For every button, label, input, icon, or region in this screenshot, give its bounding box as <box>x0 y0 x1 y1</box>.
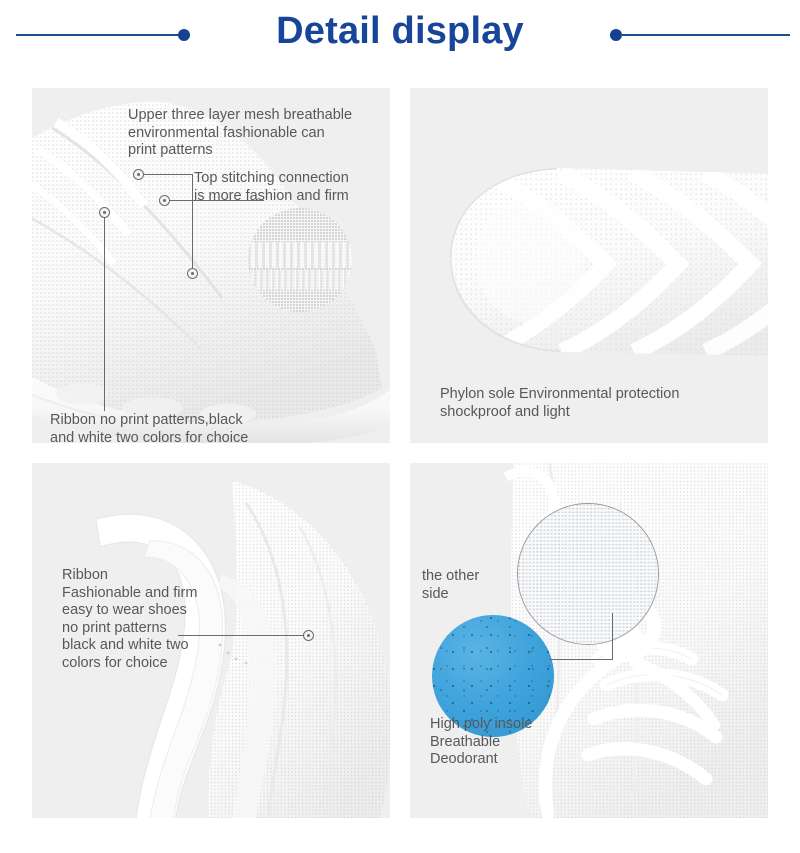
note-high-poly-insole: High poly insole Breathable Deodorant <box>430 716 610 769</box>
stitching-zoom-swatch <box>248 208 352 312</box>
note-upper-mesh: Upper three layer mesh breathable enviro… <box>128 107 390 160</box>
target-marker-mesh-top[interactable] <box>133 169 144 180</box>
leader-line-mesh-h <box>138 174 192 175</box>
note-top-stitching: Top stitching connection is more fashion… <box>194 170 394 205</box>
target-marker-ribbon[interactable] <box>99 207 110 218</box>
note-ribbon-upper: Ribbon no print patterns,black and white… <box>50 412 340 447</box>
page-header: Detail display <box>0 0 800 78</box>
target-marker-stitching[interactable] <box>159 195 170 206</box>
note-other-side: the other side <box>422 568 522 603</box>
leader-line-mesh-v <box>192 174 193 273</box>
header-decor-line-right <box>620 34 790 36</box>
leader-line-insole-h <box>550 659 612 660</box>
target-marker-mesh-bottom[interactable] <box>187 268 198 279</box>
leader-line-ribbon-v <box>104 212 105 411</box>
target-marker-ribbon-collar[interactable] <box>303 630 314 641</box>
page-title: Detail display <box>0 8 800 54</box>
leader-line-insole-v <box>612 613 613 660</box>
note-ribbon-collar: Ribbon Fashionable and firm easy to wear… <box>62 567 272 672</box>
note-phylon-sole: Phylon sole Environmental protection sho… <box>440 386 770 421</box>
